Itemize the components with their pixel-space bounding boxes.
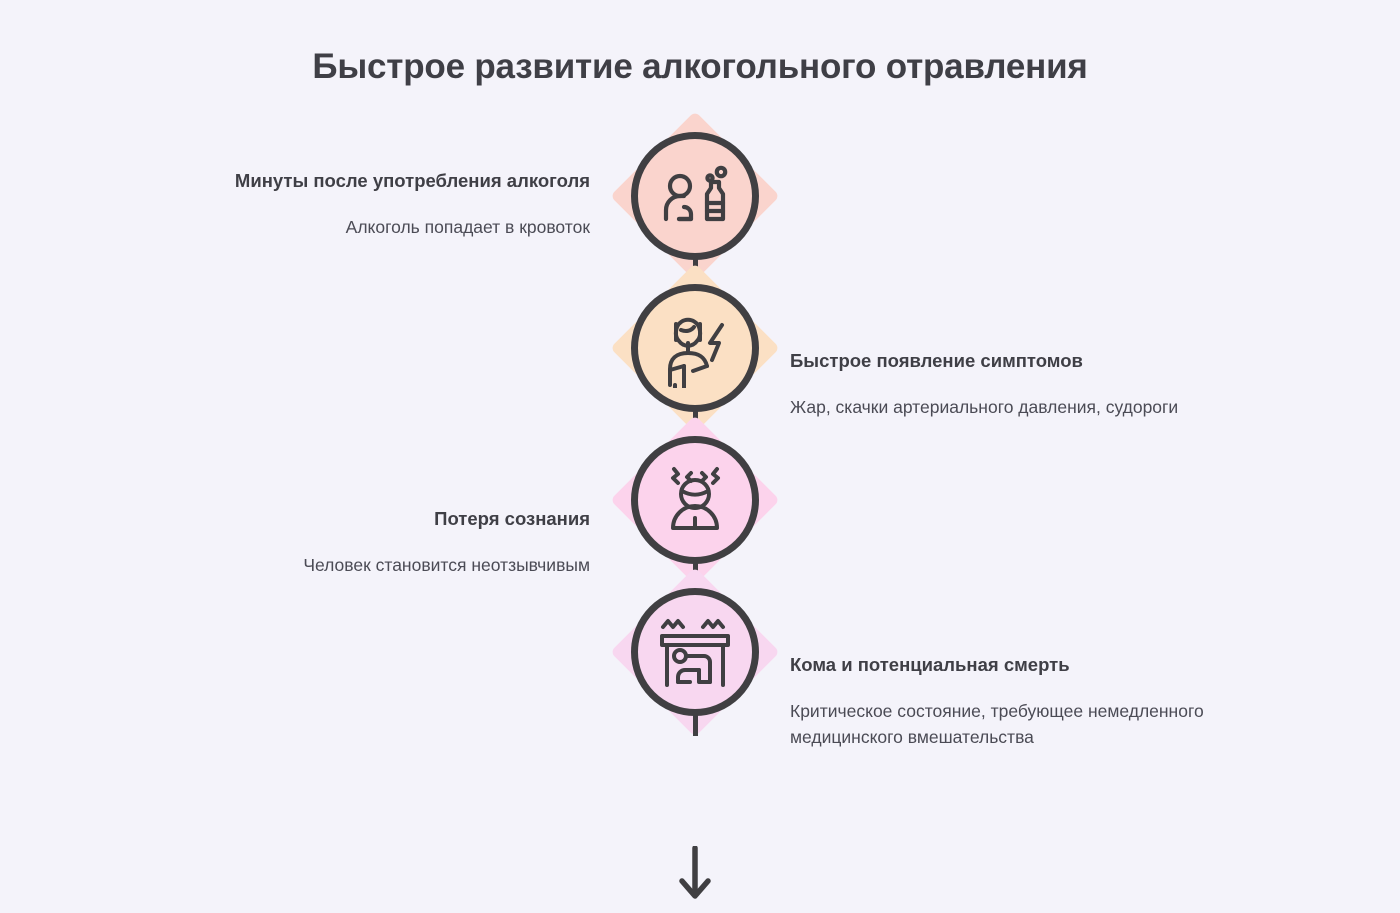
step-3-heading: Потеря сознания (160, 506, 590, 532)
down-arrow-icon (677, 846, 713, 908)
step-3-text-block: Потеря сознания Человек становится неотз… (160, 506, 590, 579)
page-title: Быстрое развитие алкогольного отравления (0, 47, 1400, 87)
step-3-description: Человек становится неотзывчивым (160, 553, 590, 579)
timeline-step-1: Минуты после употребления алкоголя Алког… (0, 130, 1400, 282)
step-2-text-block: Быстрое появление симптомов Жар, скачки … (790, 348, 1220, 421)
timeline: Минуты после употребления алкоголя Алког… (0, 130, 1400, 830)
step-4-text-block: Кома и потенциальная смерть Критическое … (790, 652, 1220, 751)
person-on-hospital-bed-icon[interactable] (631, 588, 759, 716)
timeline-step-4: Кома и потенциальная смерть Критическое … (0, 586, 1400, 738)
timeline-step-3: Потеря сознания Человек становится неотз… (0, 434, 1400, 586)
step-1-description: Алкоголь попадает в кровоток (160, 215, 590, 241)
step-4-connector-line (693, 714, 698, 736)
person-with-lightning-icon[interactable] (631, 284, 759, 412)
person-with-bottle-icon[interactable] (631, 132, 759, 260)
step-4-heading: Кома и потенциальная смерть (790, 652, 1220, 678)
step-1-text-block: Минуты после употребления алкоголя Алког… (160, 168, 590, 241)
step-1-heading: Минуты после употребления алкоголя (160, 168, 590, 194)
step-2-description: Жар, скачки артериального давления, судо… (790, 395, 1220, 421)
step-4-description: Критическое состояние, требующее немедле… (790, 699, 1220, 751)
timeline-step-2: Быстрое появление симптомов Жар, скачки … (0, 282, 1400, 434)
dizzy-unconscious-person-icon[interactable] (631, 436, 759, 564)
step-2-heading: Быстрое появление симптомов (790, 348, 1220, 374)
